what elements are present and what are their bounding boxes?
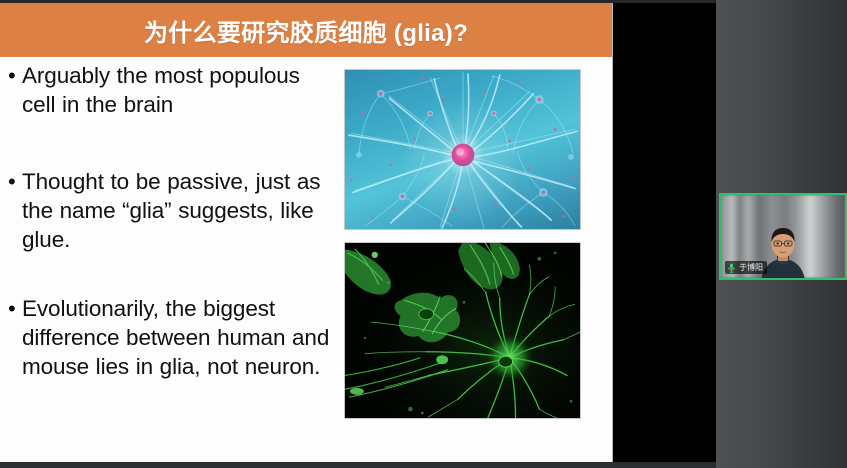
bullet-marker-icon: • — [8, 167, 22, 197]
speaker-video-thumbnail[interactable]: 于博阳 — [719, 193, 847, 280]
neuron-network-illustration — [344, 69, 581, 230]
microphone-icon — [727, 263, 736, 273]
bullet-marker-icon: • — [8, 61, 22, 91]
bullet-text: Evolutionarily, the biggest difference b… — [22, 294, 338, 381]
shared-screen-stage: 为什么要研究胶质细胞 (glia)? • Arguably the most p… — [0, 0, 716, 468]
slide-title: 为什么要研究胶质细胞 (glia)? — [0, 3, 612, 57]
list-item: • Thought to be passive, just as the nam… — [8, 167, 338, 254]
bullet-text: Arguably the most populous cell in the b… — [22, 61, 338, 119]
list-item: • Evolutionarily, the biggest difference… — [8, 294, 338, 381]
list-item: • Arguably the most populous cell in the… — [8, 61, 338, 119]
stage-bottom-strip — [0, 462, 716, 468]
presentation-slide: 为什么要研究胶质细胞 (glia)? • Arguably the most p… — [0, 3, 613, 462]
bullet-marker-icon: • — [8, 294, 22, 324]
participant-name-badge: 于博阳 — [725, 261, 767, 274]
astrocyte-fluorescence-micrograph — [344, 242, 581, 419]
bullet-text: Thought to be passive, just as the name … — [22, 167, 338, 254]
participant-name: 于博阳 — [739, 263, 763, 273]
zoom-meeting-screen: 为什么要研究胶质细胞 (glia)? • Arguably the most p… — [0, 0, 847, 468]
slide-bullet-list: • Arguably the most populous cell in the… — [8, 61, 338, 407]
